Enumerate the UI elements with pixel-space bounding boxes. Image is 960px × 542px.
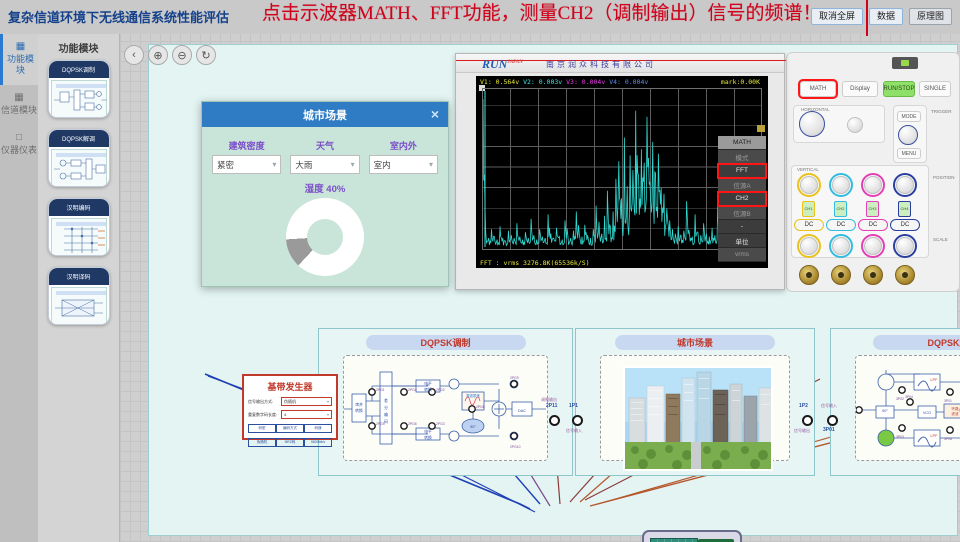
svg-text:转换: 转换 [424, 435, 432, 440]
ch4-scale-knob[interactable] [896, 237, 914, 255]
svg-text:2PG2: 2PG2 [436, 388, 445, 392]
scope-front-panel[interactable]: MATH Display RUN/STOP SINGLE HORIZONTAL … [786, 52, 960, 292]
menu-item-fft[interactable]: FFT [718, 164, 766, 178]
horizontal-position-knob[interactable] [847, 117, 863, 133]
port-label-1P2: 1P2 [799, 403, 808, 409]
ch2-coupling-label: DC [826, 219, 856, 231]
city-scene-dialog[interactable]: 城市场景 × 建筑密度 紧密 ▾ 天气 大雨 ▾ [201, 101, 449, 287]
sidebar-item-label: 功能模块 [7, 54, 34, 75]
position-label: POSITION [933, 175, 955, 180]
sidebar-item-label: 仪器仪表 [1, 145, 37, 155]
ch3-bnc-connector[interactable] [863, 265, 883, 285]
display-button[interactable]: Display [842, 81, 878, 97]
baseband-title: 基带发生器 [244, 376, 336, 393]
port-sub-3P01: 信号输入 [821, 403, 837, 409]
module-card-thumb [51, 287, 107, 325]
svg-text:90°: 90° [470, 425, 476, 429]
svg-text:DAC: DAC [518, 409, 526, 413]
horizontal-scale-knob[interactable] [799, 111, 825, 137]
port-sub-1P2: 信号输出 [794, 428, 810, 434]
svg-text:环路: 环路 [951, 406, 959, 411]
port-label-3P01: 3P01 [823, 427, 835, 433]
svg-text:2PG4: 2PG4 [408, 388, 417, 392]
baseband-field-value: 伪随机 [284, 399, 296, 405]
panel-diagram: 2PG12PG5 2PG42PG6 2PG22PG3 2PG8 2PG92PG1… [343, 355, 548, 461]
zoom-in-icon[interactable]: ⊕ [148, 45, 168, 65]
baseband-field-row: 重复数字码长度: 4 ▾ [248, 410, 332, 419]
module-card-dqpsk-modulation[interactable]: DQPSK调制 [48, 60, 110, 118]
svg-text:分: 分 [384, 405, 388, 410]
svg-text:VCO: VCO [923, 411, 931, 415]
menu-item-math[interactable]: MATH [718, 136, 766, 150]
math-button[interactable]: MATH [800, 81, 836, 97]
menu-item-mode[interactable]: 模式 [718, 150, 766, 164]
ch4-bnc-connector[interactable] [895, 265, 915, 285]
svg-text:载波振荡: 载波振荡 [466, 393, 480, 398]
ch2-button[interactable]: CH2 [834, 201, 847, 217]
canvas-toolbar: ‹ ⊕ ⊖ ↻ [124, 45, 216, 65]
readout-v1: V1: 0.564v [480, 78, 519, 86]
baseband-field-row: 信号输出方式: 伪随机 ▾ [248, 397, 332, 406]
svg-text:2PG10: 2PG10 [510, 445, 521, 449]
trigger-level-knob[interactable] [898, 125, 918, 145]
device-screen [650, 538, 698, 542]
field-value: 室内 [374, 159, 391, 171]
weather-select[interactable]: 大雨 ▾ [290, 155, 359, 174]
math-menu[interactable]: MATH 模式 FFT 信源A CH2 信源B - 单位 vrms [718, 136, 766, 262]
ch1-bnc-connector[interactable] [799, 265, 819, 285]
module-card-hamming-decode[interactable]: 汉明译码 [48, 267, 110, 325]
baseband-field-label: 信号输出方式: [248, 399, 278, 405]
trigger-mode-button[interactable]: MODE [897, 111, 921, 122]
port-sub-1P1: 信号输入 [566, 428, 582, 434]
trigger-menu-button[interactable]: MENU [897, 148, 921, 159]
panel-dqpsk-modulation[interactable]: DQPSK调制 [318, 328, 573, 476]
svg-text:差: 差 [384, 398, 388, 403]
left-rail: ▦ 功能模块 ▦ 信道模块 □ 仪器仪表 [0, 34, 38, 542]
svg-text:3P04: 3P04 [905, 395, 913, 399]
annotation-divider [866, 0, 868, 36]
field-label: 建筑密度 [212, 139, 281, 152]
svg-text:2PG8: 2PG8 [476, 405, 485, 409]
scope-brand-logo: RUNJAPAN [482, 57, 523, 72]
baseband-field-value: 4 [284, 412, 286, 417]
svg-text:3P03: 3P03 [896, 435, 904, 439]
single-button[interactable]: SINGLE [919, 81, 951, 97]
svg-text:编: 编 [384, 412, 388, 417]
svg-text:2PG1: 2PG1 [376, 388, 385, 392]
module-card-thumb [51, 149, 107, 187]
panel-city-scene[interactable]: 城市场景 [575, 328, 815, 476]
panel-title: DQPSK调制 [366, 335, 526, 350]
chevron-down-icon: ▾ [429, 160, 433, 169]
table-cell: NRZ码 [276, 438, 304, 447]
table-header-cell: 码型 [248, 424, 276, 433]
ch1-coupling-label: DC [794, 219, 824, 231]
ch2-bnc-connector[interactable] [831, 265, 851, 285]
ch4-coupling-label: DC [890, 219, 920, 231]
svg-text:电平: 电平 [424, 381, 432, 386]
table-row: 伪随机 NRZ码 9600bit/s [248, 438, 332, 447]
scope-header: RUNJAPAN 南京润众科技有限公司 [456, 54, 784, 73]
menu-item-ch2[interactable]: CH2 [718, 192, 766, 206]
panel-title: 城市场景 [615, 335, 775, 350]
svg-text:3P01: 3P01 [944, 399, 952, 403]
bottom-oscilloscope-device[interactable] [642, 530, 742, 542]
humidity-label: 湿度 40% [212, 181, 438, 195]
port-1P1[interactable] [572, 415, 583, 426]
menu-item-source-b[interactable]: 信源B [718, 206, 766, 220]
scope-screen[interactable]: V1: 0.564v V2: 0.003v V3: 0.004v V4: 0.0… [476, 76, 768, 268]
svg-text:2PG9: 2PG9 [510, 376, 519, 380]
port-1P2[interactable] [802, 415, 813, 426]
panel-dqpsk-demodulation[interactable]: DQPSK解调 [830, 328, 960, 476]
menu-item-source-a[interactable]: 信源A [718, 178, 766, 192]
menu-item-operator[interactable]: - [718, 220, 766, 234]
data-button[interactable]: 数据 [869, 8, 903, 25]
panel-title: DQPSK解调 [873, 335, 960, 350]
ch3-position-knob[interactable] [864, 176, 882, 194]
ch3-scale-knob[interactable] [864, 237, 882, 255]
humidity-donut-chart [286, 198, 364, 276]
menu-item-vrms[interactable]: vrms [718, 248, 766, 262]
readout-mark: mark:0.00K [721, 78, 760, 86]
table-header-cell: 码速 [304, 424, 332, 433]
schematic-button[interactable]: 原理图 [909, 8, 952, 25]
module-card-label: DQPSK调制 [49, 61, 109, 78]
indoor-outdoor-select[interactable]: 室内 ▾ [369, 155, 438, 174]
module-panel: 功能模块 DQPSK调制 DQPSK解调 [38, 34, 120, 542]
back-icon[interactable]: ‹ [124, 45, 144, 65]
table-cell: 9600bit/s [304, 438, 332, 447]
dialog-header: 城市场景 × [202, 102, 448, 127]
module-card-dqpsk-demodulation[interactable]: DQPSK解调 [48, 129, 110, 187]
svg-text:2PG6: 2PG6 [408, 422, 417, 426]
sidebar-item-function-modules[interactable]: ▦ 功能模块 [0, 34, 38, 85]
sidebar-item-instruments[interactable]: □ 仪器仪表 [0, 125, 38, 165]
oscilloscope-window[interactable]: RUNJAPAN 南京润众科技有限公司 V1: 0.564v V2: 0.003… [455, 53, 785, 290]
scope-company-name: 南京润众科技有限公司 [546, 59, 656, 70]
chevron-down-icon: ▾ [272, 160, 276, 169]
field-label: 天气 [290, 139, 359, 152]
scale-label: SCALE [933, 237, 948, 242]
city-photo [623, 366, 773, 471]
field-building-density: 建筑密度 紧密 ▾ [212, 139, 281, 174]
square-icon: □ [0, 132, 38, 143]
ch1-scale-knob[interactable] [800, 237, 818, 255]
svg-text:3P06: 3P06 [944, 437, 952, 441]
svg-text:2PG3: 2PG3 [436, 422, 445, 426]
top-bar: 复杂信道环境下无线通信系统性能评估 取消全屏 数据 原理图 [0, 0, 960, 34]
port-3P01[interactable] [827, 415, 838, 426]
table-cell: 伪随机 [248, 438, 276, 447]
svg-text:LPF: LPF [930, 377, 938, 382]
usb-port-icon [892, 57, 918, 69]
chevron-down-icon: ▾ [327, 412, 329, 417]
port-label-1P1: 1P1 [569, 403, 578, 409]
baseband-table-header: 码型 编码方式 码速 [248, 424, 332, 433]
top-button-group: 取消全屏 数据 原理图 [811, 8, 952, 25]
panel-photo-area [600, 355, 790, 461]
application-root: 复杂信道环境下无线通信系统性能评估 取消全屏 数据 原理图 点击示波器MATH、… [0, 0, 960, 542]
svg-text:3P02: 3P02 [896, 397, 904, 401]
ch1-position-knob[interactable] [800, 176, 818, 194]
port-label-2P11: 2P11 [546, 403, 557, 409]
field-value: 紧密 [217, 159, 234, 171]
svg-text:转换: 转换 [355, 408, 363, 413]
ch2-scale-knob[interactable] [832, 237, 850, 255]
svg-text:90°: 90° [882, 409, 888, 413]
readout-v2: V2: 0.003v [523, 78, 562, 86]
ch3-button[interactable]: CH3 [866, 201, 879, 217]
building-density-select[interactable]: 紧密 ▾ [212, 155, 281, 174]
field-weather: 天气 大雨 ▾ [290, 139, 359, 174]
svg-text:码: 码 [384, 419, 388, 424]
port-sub-2P11: 调制输出 [541, 397, 557, 403]
ch4-button[interactable]: CH4 [898, 201, 911, 217]
page-title: 复杂信道环境下无线通信系统性能评估 [8, 7, 229, 26]
grid-icon: ▦ [3, 41, 38, 52]
trigger-label: TRIGGER [931, 109, 952, 114]
fft-footer-label: FFT : vrms 3276.8K(65536k/S) [480, 259, 590, 267]
svg-text:转换: 转换 [424, 387, 432, 392]
ch2-position-knob[interactable] [832, 176, 850, 194]
exit-fullscreen-button[interactable]: 取消全屏 [811, 8, 863, 25]
readout-v4: V4: 0.004v [609, 78, 648, 86]
port-2P11[interactable] [549, 415, 560, 426]
baseband-field-label: 重复数字码长度: [248, 412, 278, 418]
sidebar-item-label: 信道模块 [1, 105, 37, 115]
svg-text:LPF: LPF [930, 433, 938, 438]
readout-v3: V3: 0.004v [566, 78, 605, 86]
dialog-title: 城市场景 [303, 107, 347, 123]
svg-text:电平: 电平 [424, 429, 432, 434]
grid-icon: ▦ [0, 92, 38, 103]
module-card-label: 汉明编码 [49, 199, 109, 216]
baseband-code-length-select[interactable]: 4 ▾ [281, 410, 332, 419]
field-value: 大雨 [295, 159, 312, 171]
baseband-output-mode-select[interactable]: 伪随机 ▾ [281, 397, 332, 406]
panel-diagram: 3P023P04 3P03 3P013P06 3P073P08 3P093P10… [855, 355, 960, 461]
module-card-hamming-encode[interactable]: 汉明编码 [48, 198, 110, 256]
ch3-coupling-label: DC [858, 219, 888, 231]
module-card-thumb [51, 80, 107, 118]
menu-item-unit[interactable]: 单位 [718, 234, 766, 248]
refresh-icon[interactable]: ↻ [196, 45, 216, 65]
svg-text:滤波: 滤波 [951, 411, 959, 416]
field-indoor-outdoor: 室内外 室内 ▾ [369, 139, 438, 174]
module-card-label: 汉明译码 [49, 268, 109, 285]
ch4-position-knob[interactable] [896, 176, 914, 194]
close-icon[interactable]: × [431, 106, 439, 122]
vertical-label: VERTICAL [797, 167, 819, 172]
module-card-label: DQPSK解调 [49, 130, 109, 147]
table-header-cell: 编码方式 [276, 424, 304, 433]
chevron-down-icon: ▾ [327, 399, 329, 404]
module-panel-title: 功能模块 [38, 34, 119, 60]
scope-readouts: V1: 0.564v V2: 0.003v V3: 0.004v V4: 0.0… [480, 78, 648, 86]
chevron-down-icon: ▾ [351, 160, 355, 169]
field-label: 室内外 [369, 139, 438, 152]
ch1-button[interactable]: CH1 [802, 201, 815, 217]
baseband-generator-panel[interactable]: 基带发生器 信号输出方式: 伪随机 ▾ 重复数字码长度: 4 ▾ 码型 编码方式… [242, 374, 338, 440]
run-stop-button[interactable]: RUN/STOP [883, 81, 915, 97]
dialog-body: 建筑密度 紧密 ▾ 天气 大雨 ▾ 室内外 室内 [202, 127, 448, 276]
svg-text:串并: 串并 [355, 402, 363, 407]
zoom-out-icon[interactable]: ⊖ [172, 45, 192, 65]
dialog-field-row: 建筑密度 紧密 ▾ 天气 大雨 ▾ 室内外 室内 [212, 139, 438, 174]
sidebar-item-channel-modules[interactable]: ▦ 信道模块 [0, 85, 38, 125]
module-card-thumb [51, 218, 107, 256]
